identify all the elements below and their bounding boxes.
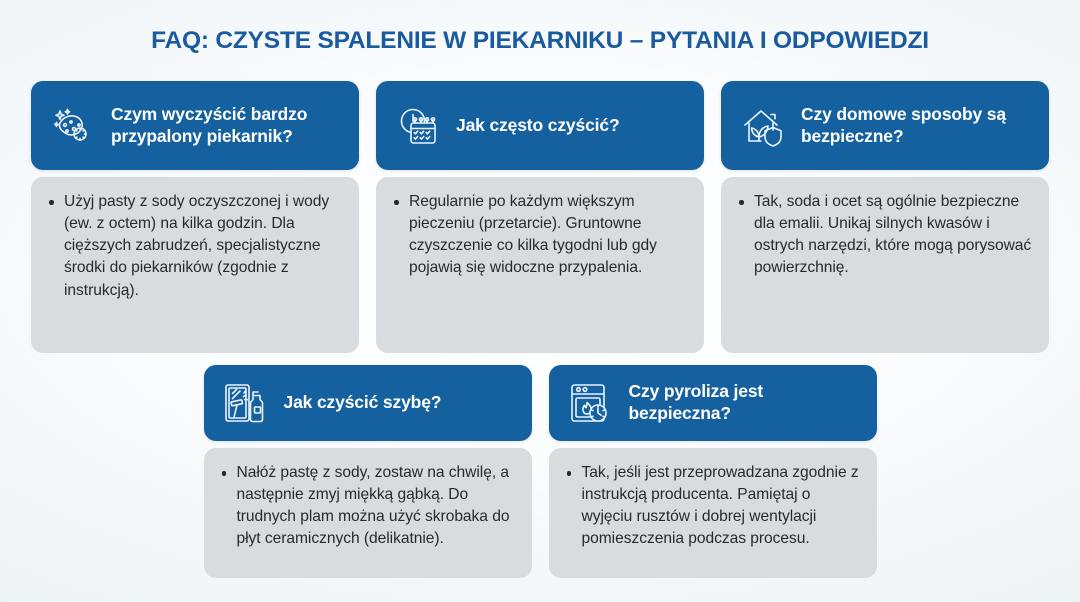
faq-question: Czy domowe sposoby są bezpieczne? bbox=[801, 104, 1033, 147]
page-title: FAQ: CZYSTE SPALENIE W PIEKARNIKU – PYTA… bbox=[0, 27, 1080, 55]
faq-card-body: Regularnie po każdym większym pieczeniu … bbox=[376, 177, 704, 353]
faq-answer: Użyj pasty z sody oczyszczonej i wody (e… bbox=[45, 191, 343, 302]
faq-card-row-bottom: Jak czyścić szybę? Nałóż pastę z sody, z… bbox=[196, 365, 884, 578]
faq-card-body: Użyj pasty z sody oczyszczonej i wody (e… bbox=[31, 177, 359, 353]
faq-card-body: Tak, soda i ocet są ogólnie bezpieczne d… bbox=[721, 177, 1049, 353]
faq-answer: Tak, jeśli jest przeprowadzana zgodnie z… bbox=[563, 462, 861, 551]
faq-card-pyrolysis-safe: Czy pyroliza jest bezpieczna? Tak, jeśli… bbox=[549, 365, 877, 578]
house-leaf-shield-icon bbox=[735, 99, 789, 153]
faq-card-header[interactable]: Jak często czyścić? bbox=[376, 81, 704, 170]
faq-answer-list: Tak, jeśli jest przeprowadzana zgodnie z… bbox=[563, 462, 861, 551]
window-squeegee-spray-icon bbox=[218, 376, 272, 430]
faq-answer-list: Regularnie po każdym większym pieczeniu … bbox=[390, 191, 688, 280]
faq-card-header[interactable]: Czym wyczyścić bardzo przypalony piekarn… bbox=[31, 81, 359, 170]
faq-card-home-methods-safe: Czy domowe sposoby są bezpieczne? Tak, s… bbox=[721, 81, 1049, 353]
faq-infographic: FAQ: CZYSTE SPALENIE W PIEKARNIKU – PYTA… bbox=[0, 0, 1080, 602]
faq-card-header[interactable]: Jak czyścić szybę? bbox=[204, 365, 532, 441]
sponge-bubbles-icon bbox=[45, 99, 99, 153]
faq-question: Jak czyścić szybę? bbox=[284, 392, 442, 414]
faq-answer: Tak, soda i ocet są ogólnie bezpieczne d… bbox=[735, 191, 1033, 280]
faq-answer-list: Użyj pasty z sody oczyszczonej i wody (e… bbox=[45, 191, 343, 302]
faq-card-body: Nałóż pastę z sody, zostaw na chwilę, a … bbox=[204, 448, 532, 578]
faq-question: Czy pyroliza jest bezpieczna? bbox=[629, 381, 861, 424]
faq-answer: Regularnie po każdym większym pieczeniu … bbox=[390, 191, 688, 280]
faq-card-body: Tak, jeśli jest przeprowadzana zgodnie z… bbox=[549, 448, 877, 578]
faq-question: Jak często czyścić? bbox=[456, 115, 620, 137]
faq-answer-list: Tak, soda i ocet są ogólnie bezpieczne d… bbox=[735, 191, 1033, 280]
faq-card-clean-glass: Jak czyścić szybę? Nałóż pastę z sody, z… bbox=[204, 365, 532, 578]
clock-calendar-icon bbox=[390, 99, 444, 153]
faq-card-row-top: Czym wyczyścić bardzo przypalony piekarn… bbox=[31, 81, 1049, 353]
faq-question: Czym wyczyścić bardzo przypalony piekarn… bbox=[111, 104, 343, 147]
faq-card-header[interactable]: Czy pyroliza jest bezpieczna? bbox=[549, 365, 877, 441]
faq-answer: Nałóż pastę z sody, zostaw na chwilę, a … bbox=[218, 462, 516, 551]
faq-answer-list: Nałóż pastę z sody, zostaw na chwilę, a … bbox=[218, 462, 516, 551]
faq-card-how-often: Jak często czyścić? Regularnie po każdym… bbox=[376, 81, 704, 353]
faq-card-header[interactable]: Czy domowe sposoby są bezpieczne? bbox=[721, 81, 1049, 170]
faq-card-burnt-oven: Czym wyczyścić bardzo przypalony piekarn… bbox=[31, 81, 359, 353]
oven-flame-gauge-icon bbox=[563, 376, 617, 430]
